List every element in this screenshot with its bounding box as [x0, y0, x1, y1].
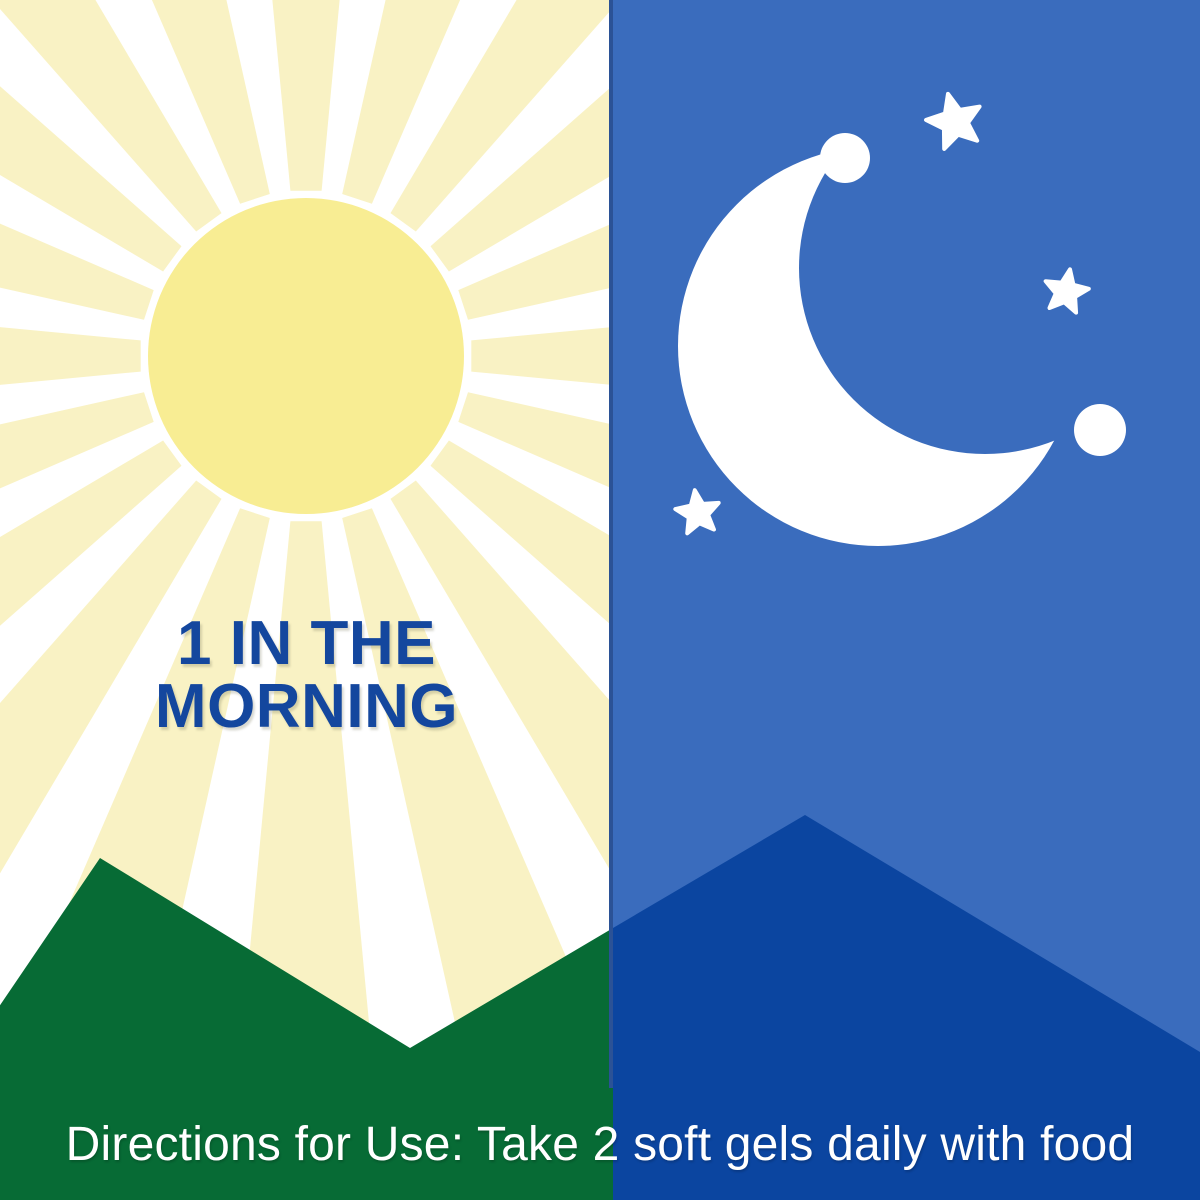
- night-sky-art: [613, 0, 1200, 1120]
- morning-headline: 1 IN THE MORNING: [0, 612, 613, 738]
- directions-for-use-text: Directions for Use: Take 2 soft gels dai…: [0, 1088, 1200, 1200]
- panel-divider: [609, 0, 613, 1200]
- sun-disc-icon: [148, 198, 464, 514]
- moon-tip-lower: [1074, 404, 1126, 456]
- morning-panel: 1 IN THE MORNING: [0, 0, 613, 1200]
- moon-tip-upper: [820, 133, 870, 183]
- crescent-moon-icon: [613, 0, 1200, 1120]
- morning-headline-line-1: 1 IN THE: [0, 612, 613, 675]
- sun-rays-icon: [0, 0, 613, 1120]
- morning-headline-line-2: MORNING: [0, 675, 613, 738]
- infographic-canvas: 1 IN THE MORNING Directions for: [0, 0, 1200, 1200]
